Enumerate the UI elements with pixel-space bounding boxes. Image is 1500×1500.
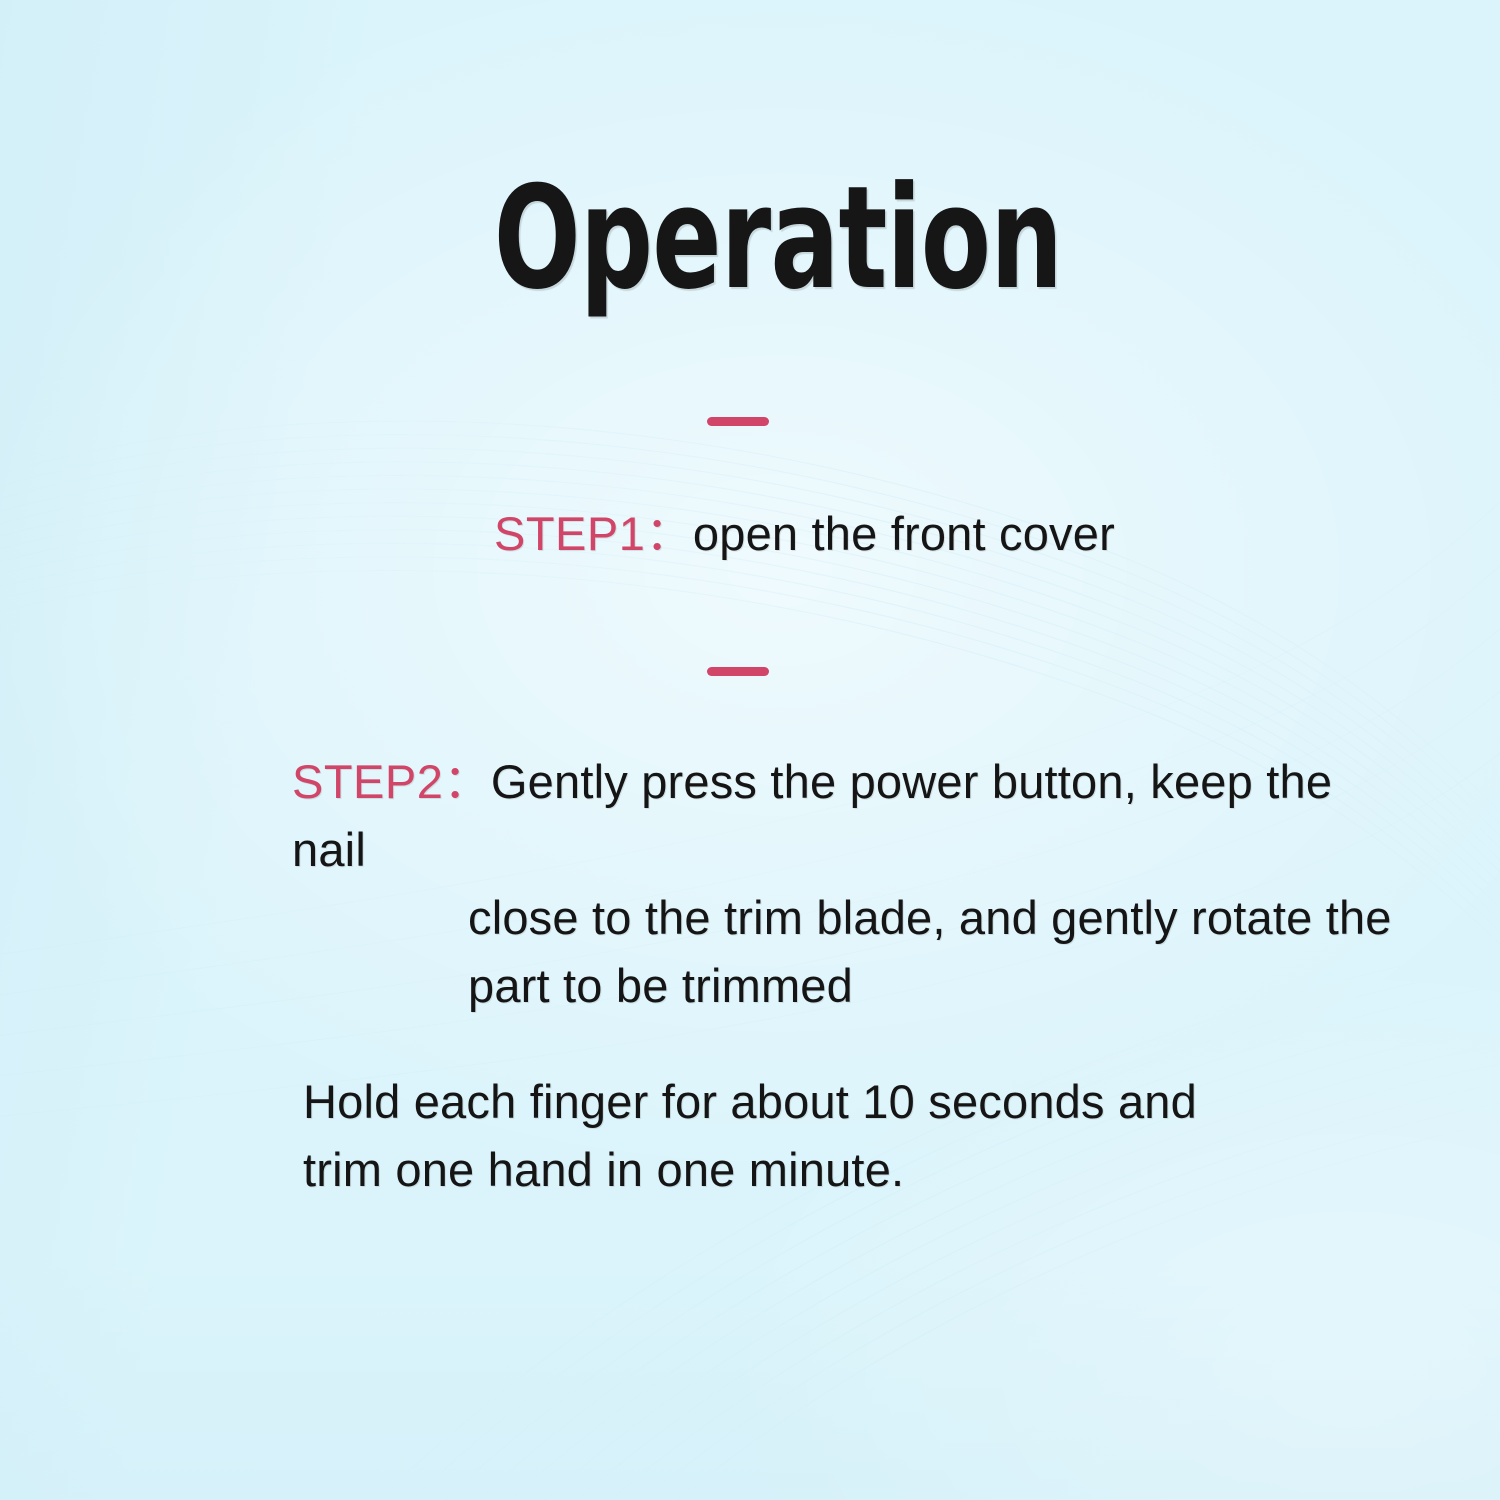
step-2-continuation-line-1: close to the trim blade, and gently rota… [292, 884, 1412, 952]
closing-note-line-1: Hold each finger for about 10 seconds an… [303, 1068, 1303, 1136]
dash-marker-icon-step1 [707, 417, 769, 426]
step-1-line: STEP1：open the front cover [494, 500, 1115, 568]
page-title: Operation [156, 168, 1401, 310]
step-1-text: open the front cover [693, 507, 1115, 560]
closing-note: Hold each finger for about 10 seconds an… [303, 1068, 1303, 1204]
closing-note-line-2: trim one hand in one minute. [303, 1136, 1303, 1204]
operation-instruction-poster: Operation STEP1：open the front cover STE… [0, 0, 1500, 1500]
step-2-label: STEP2： [292, 755, 491, 808]
dash-marker-icon-step2 [707, 667, 769, 676]
step-1-label: STEP1： [494, 507, 693, 560]
step-2-block: STEP2：Gently press the power button, kee… [292, 748, 1412, 1020]
step-2-continuation-line-2: part to be trimmed [292, 952, 1412, 1020]
